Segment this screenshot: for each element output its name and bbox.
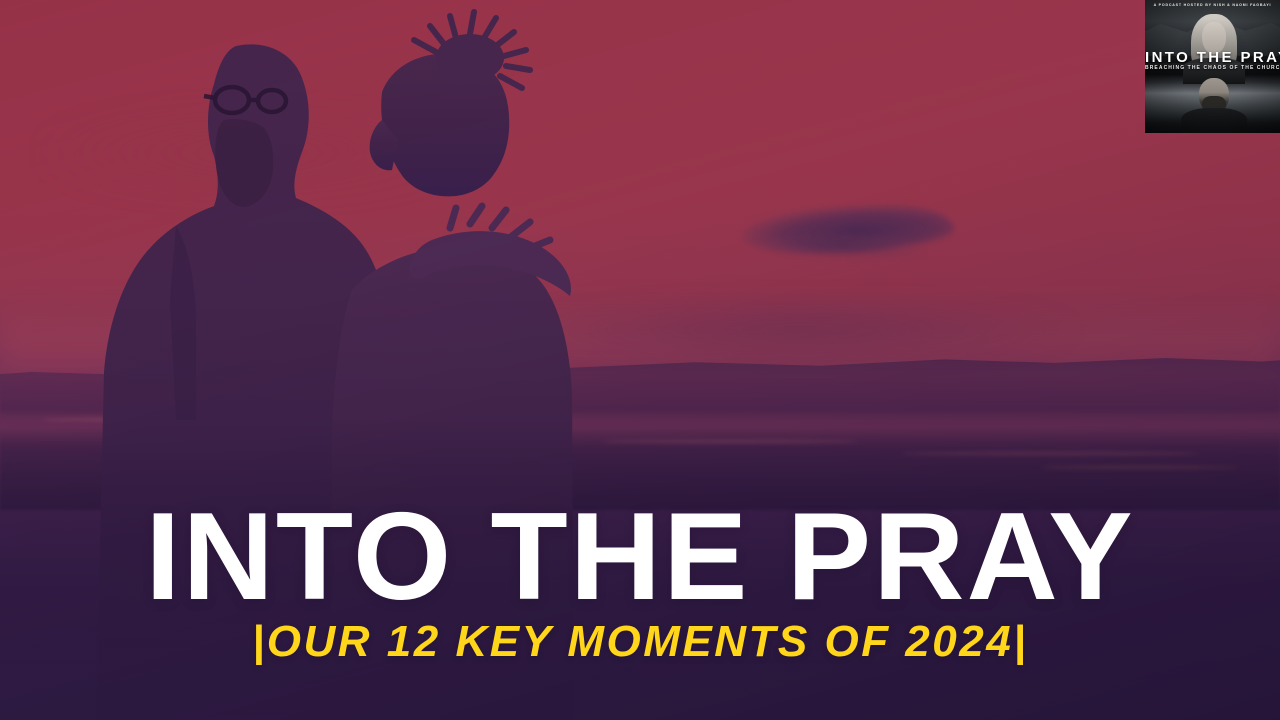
episode-subtitle: |OUR 12 KEY MOMENTS OF 2024| (0, 620, 1280, 664)
video-frame: INTO THE PRAY |OUR 12 KEY MOMENTS OF 202… (0, 0, 1280, 720)
podcast-cover-art[interactable]: A PODCAST HOSTED BY NISH & NAOMI FAGBAYI… (1145, 0, 1280, 133)
cover-hosted-by: A PODCAST HOSTED BY NISH & NAOMI FAGBAYI (1145, 3, 1280, 7)
page-title: INTO THE PRAY (0, 500, 1280, 614)
cover-title: INTO THE PRAY (1145, 50, 1280, 65)
title-block: INTO THE PRAY |OUR 12 KEY MOMENTS OF 202… (0, 500, 1280, 664)
cover-tagline: BREACHING THE CHAOS OF THE CHURCH (1145, 66, 1280, 71)
